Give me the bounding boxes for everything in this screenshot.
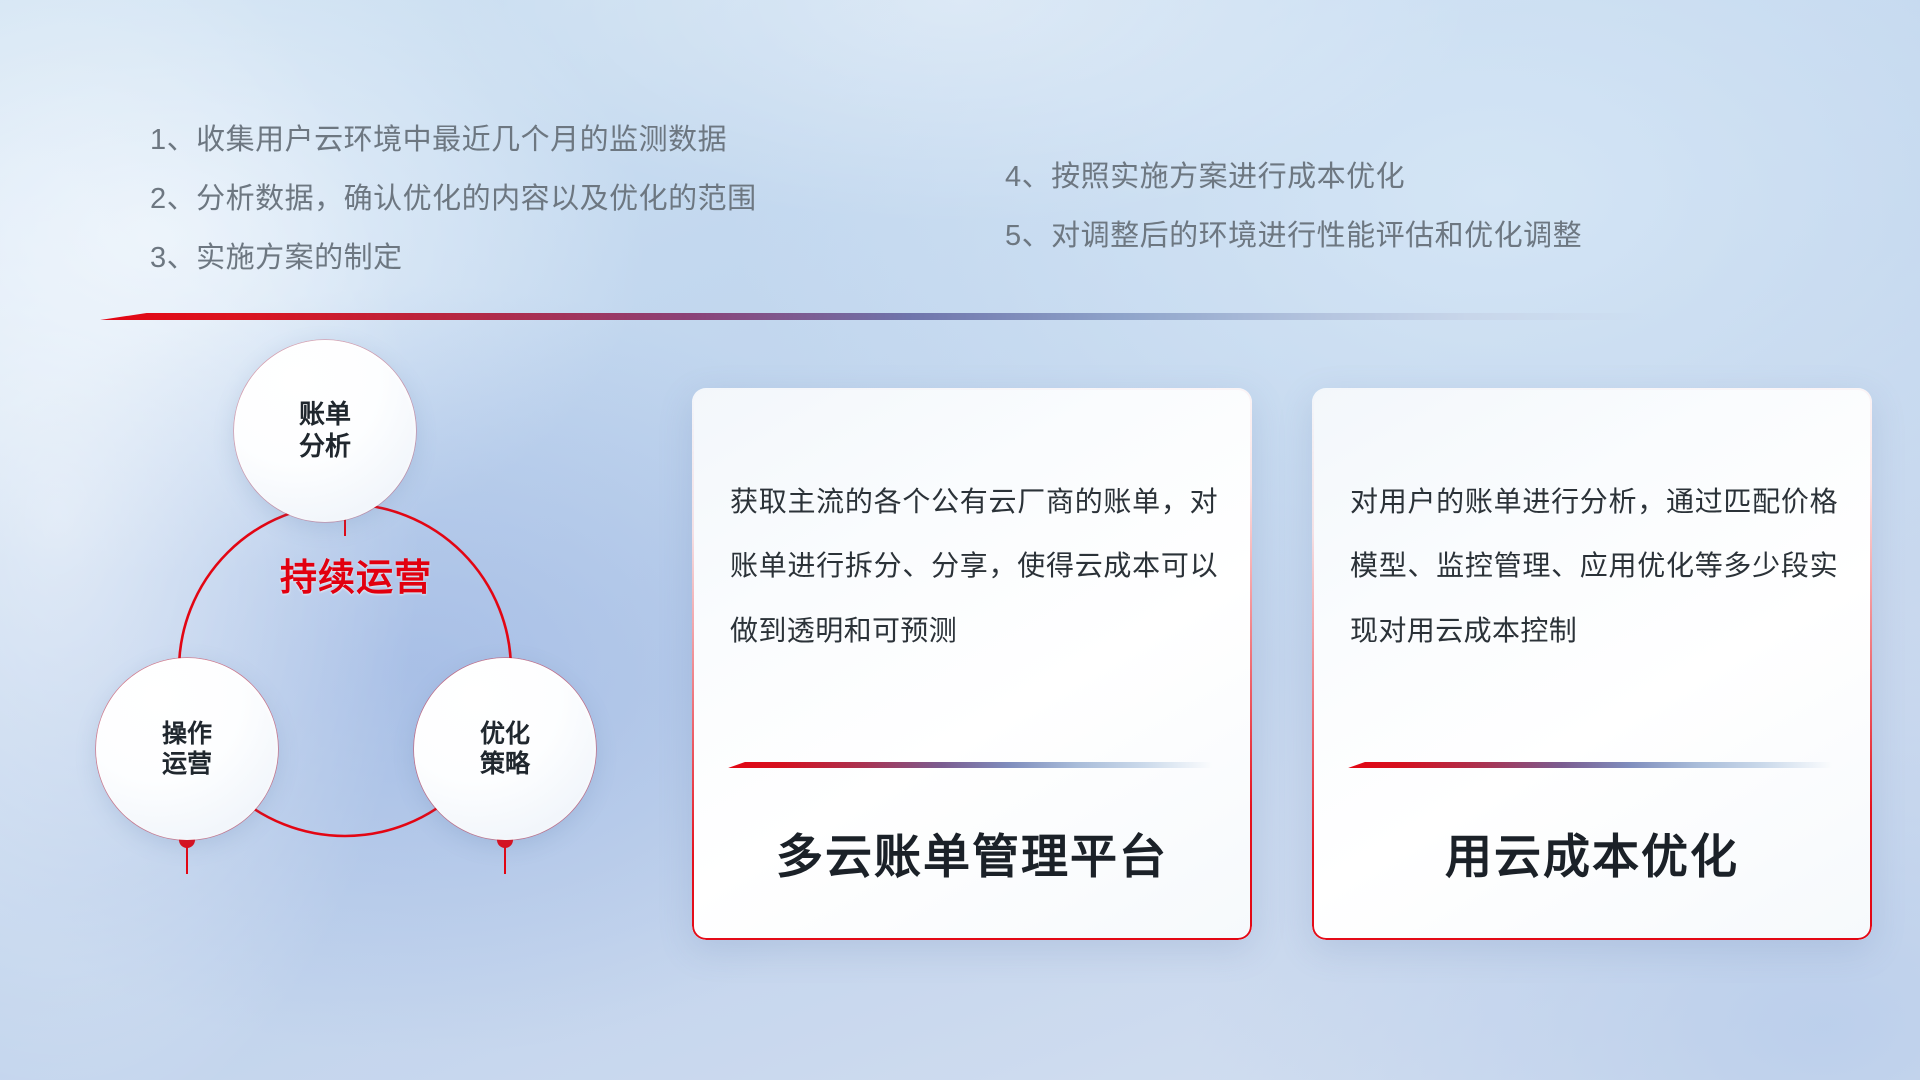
steps-list-left: 1、收集用户云环境中最近几个月的监测数据 2、分析数据，确认优化的内容以及优化的…: [150, 126, 757, 273]
venn-node-label-line2: 分析: [299, 431, 351, 463]
continuous-operations-diagram: 账单 分析 操作 运营 优化 策略 持续运营: [96, 340, 656, 960]
step-item-3: 3、实施方案的制定: [150, 244, 757, 273]
step-item-5: 5、对调整后的环境进行性能评估和优化调整: [1005, 222, 1582, 251]
step-item-4: 4、按照实施方案进行成本优化: [1005, 163, 1582, 192]
venn-node-label-line1: 操作: [162, 719, 212, 750]
venn-node-label-line2: 运营: [162, 749, 212, 780]
card-divider-rule: [1348, 762, 1832, 768]
card-title: 多云账单管理平台: [692, 818, 1252, 887]
venn-node-label-line1: 账单: [299, 399, 351, 431]
card-multi-cloud-billing[interactable]: 获取主流的各个公有云厂商的账单，对账单进行拆分、分享，使得云成本可以做到透明和可…: [692, 388, 1252, 940]
card-body-text: 对用户的账单进行分析，通过匹配价格模型、监控管理、应用优化等多少段实现对用云成本…: [1350, 470, 1838, 663]
step-item-2: 2、分析数据，确认优化的内容以及优化的范围: [150, 185, 757, 214]
step-item-1: 1、收集用户云环境中最近几个月的监测数据: [150, 126, 757, 155]
card-cloud-cost-optimization[interactable]: 对用户的账单进行分析，通过匹配价格模型、监控管理、应用优化等多少段实现对用云成本…: [1312, 388, 1872, 940]
card-title: 用云成本优化: [1312, 818, 1872, 887]
section-divider-rule: [100, 313, 1655, 320]
card-divider-rule: [728, 762, 1212, 768]
steps-list-right: 4、按照实施方案进行成本优化 5、对调整后的环境进行性能评估和优化调整: [1005, 163, 1582, 251]
venn-node-operations[interactable]: 操作 运营: [96, 658, 278, 840]
venn-node-billing-analysis[interactable]: 账单 分析: [234, 340, 416, 522]
venn-node-label-line1: 优化: [480, 719, 530, 750]
venn-node-optimization[interactable]: 优化 策略: [414, 658, 596, 840]
card-body-text: 获取主流的各个公有云厂商的账单，对账单进行拆分、分享，使得云成本可以做到透明和可…: [730, 470, 1218, 663]
venn-node-label-line2: 策略: [480, 749, 530, 780]
slide-canvas: 1、收集用户云环境中最近几个月的监测数据 2、分析数据，确认优化的内容以及优化的…: [0, 0, 1920, 1080]
venn-center-label: 持续运营: [256, 555, 456, 600]
